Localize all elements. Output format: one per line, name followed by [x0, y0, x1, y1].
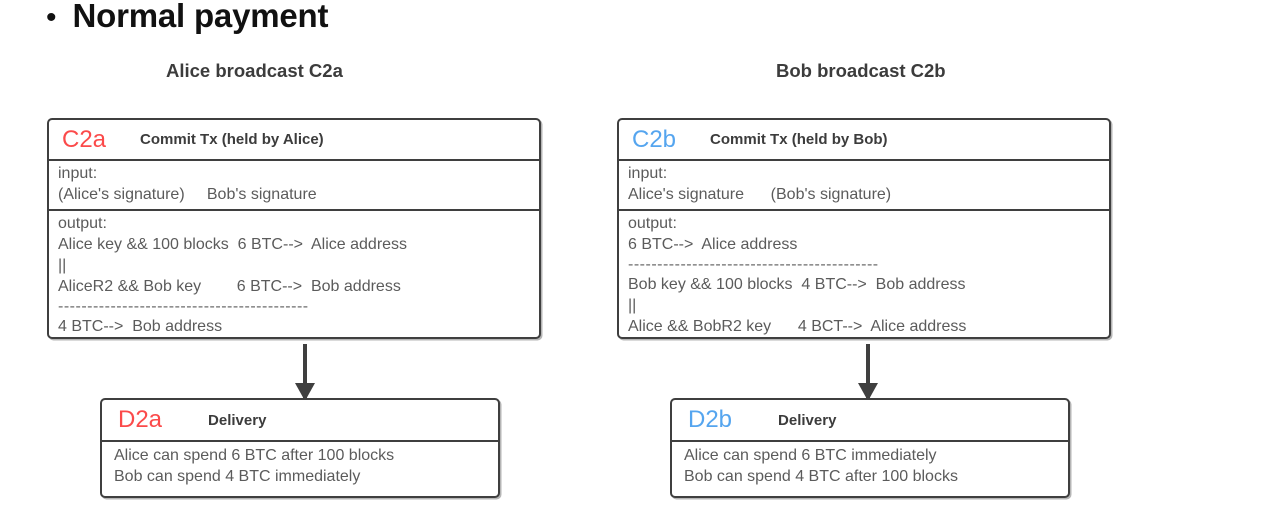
output-divider: ----------------------------------------…: [58, 297, 539, 316]
output-line: ||: [58, 255, 539, 276]
page-title: Normal payment: [73, 0, 329, 35]
input-section-c2b: input: Alice's signature (Bob's signatur…: [619, 161, 1109, 211]
delivery-card-d2b: D2b Delivery Alice can spend 6 BTC immed…: [670, 398, 1070, 498]
card-header-c2b: C2b Commit Tx (held by Bob): [619, 120, 1109, 161]
output-line: 6 BTC--> Alice address: [628, 234, 1109, 255]
card-header-c2a: C2a Commit Tx (held by Alice): [49, 120, 539, 161]
input-section-c2a: input: (Alice's signature) Bob's signatu…: [49, 161, 539, 211]
delivery-line: Alice can spend 6 BTC after 100 blocks: [114, 445, 498, 466]
delivery-body-d2b: Alice can spend 6 BTC immediately Bob ca…: [672, 442, 1068, 496]
output-divider: ----------------------------------------…: [628, 255, 1109, 274]
tx-tag-d2a: D2a: [118, 408, 162, 432]
output-label: output:: [628, 213, 1109, 234]
card-title-c2a: Commit Tx (held by Alice): [140, 131, 324, 148]
input-line: Alice's signature (Bob's signature): [628, 184, 1109, 205]
card-title-c2b: Commit Tx (held by Bob): [710, 131, 888, 148]
arrow-c2a-to-d2a: [303, 344, 307, 400]
card-title-d2a: Delivery: [208, 412, 266, 429]
arrow-c2b-to-d2b: [866, 344, 870, 400]
output-line: AliceR2 && Bob key 6 BTC--> Bob address: [58, 276, 539, 297]
tx-tag-c2b: C2b: [632, 128, 676, 152]
input-label: input:: [58, 163, 539, 184]
delivery-body-d2a: Alice can spend 6 BTC after 100 blocks B…: [102, 442, 498, 496]
output-line: Alice key && 100 blocks 6 BTC--> Alice a…: [58, 234, 539, 255]
input-label: input:: [628, 163, 1109, 184]
output-line: Alice && BobR2 key 4 BCT--> Alice addres…: [628, 316, 1109, 337]
delivery-line: Alice can spend 6 BTC immediately: [684, 445, 1068, 466]
slide-title: • Normal payment: [46, 0, 328, 35]
commit-tx-card-c2b: C2b Commit Tx (held by Bob) input: Alice…: [617, 118, 1111, 339]
tx-tag-d2b: D2b: [688, 408, 732, 432]
output-label: output:: [58, 213, 539, 234]
card-header-d2a: D2a Delivery: [102, 400, 498, 442]
delivery-line: Bob can spend 4 BTC after 100 blocks: [684, 466, 1068, 487]
card-header-d2b: D2b Delivery: [672, 400, 1068, 442]
column-heading-bob: Bob broadcast C2b: [776, 60, 946, 82]
output-section-c2a: output: Alice key && 100 blocks 6 BTC-->…: [49, 211, 539, 337]
card-title-d2b: Delivery: [778, 412, 836, 429]
delivery-line: Bob can spend 4 BTC immediately: [114, 466, 498, 487]
bullet-icon: •: [46, 3, 57, 33]
input-line: (Alice's signature) Bob's signature: [58, 184, 539, 205]
output-line: 4 BTC--> Bob address: [58, 316, 539, 337]
tx-tag-c2a: C2a: [62, 128, 106, 152]
output-line: ||: [628, 295, 1109, 316]
output-line: Bob key && 100 blocks 4 BTC--> Bob addre…: [628, 274, 1109, 295]
delivery-card-d2a: D2a Delivery Alice can spend 6 BTC after…: [100, 398, 500, 498]
commit-tx-card-c2a: C2a Commit Tx (held by Alice) input: (Al…: [47, 118, 541, 339]
column-heading-alice: Alice broadcast C2a: [166, 60, 343, 82]
output-section-c2b: output: 6 BTC--> Alice address ---------…: [619, 211, 1109, 337]
